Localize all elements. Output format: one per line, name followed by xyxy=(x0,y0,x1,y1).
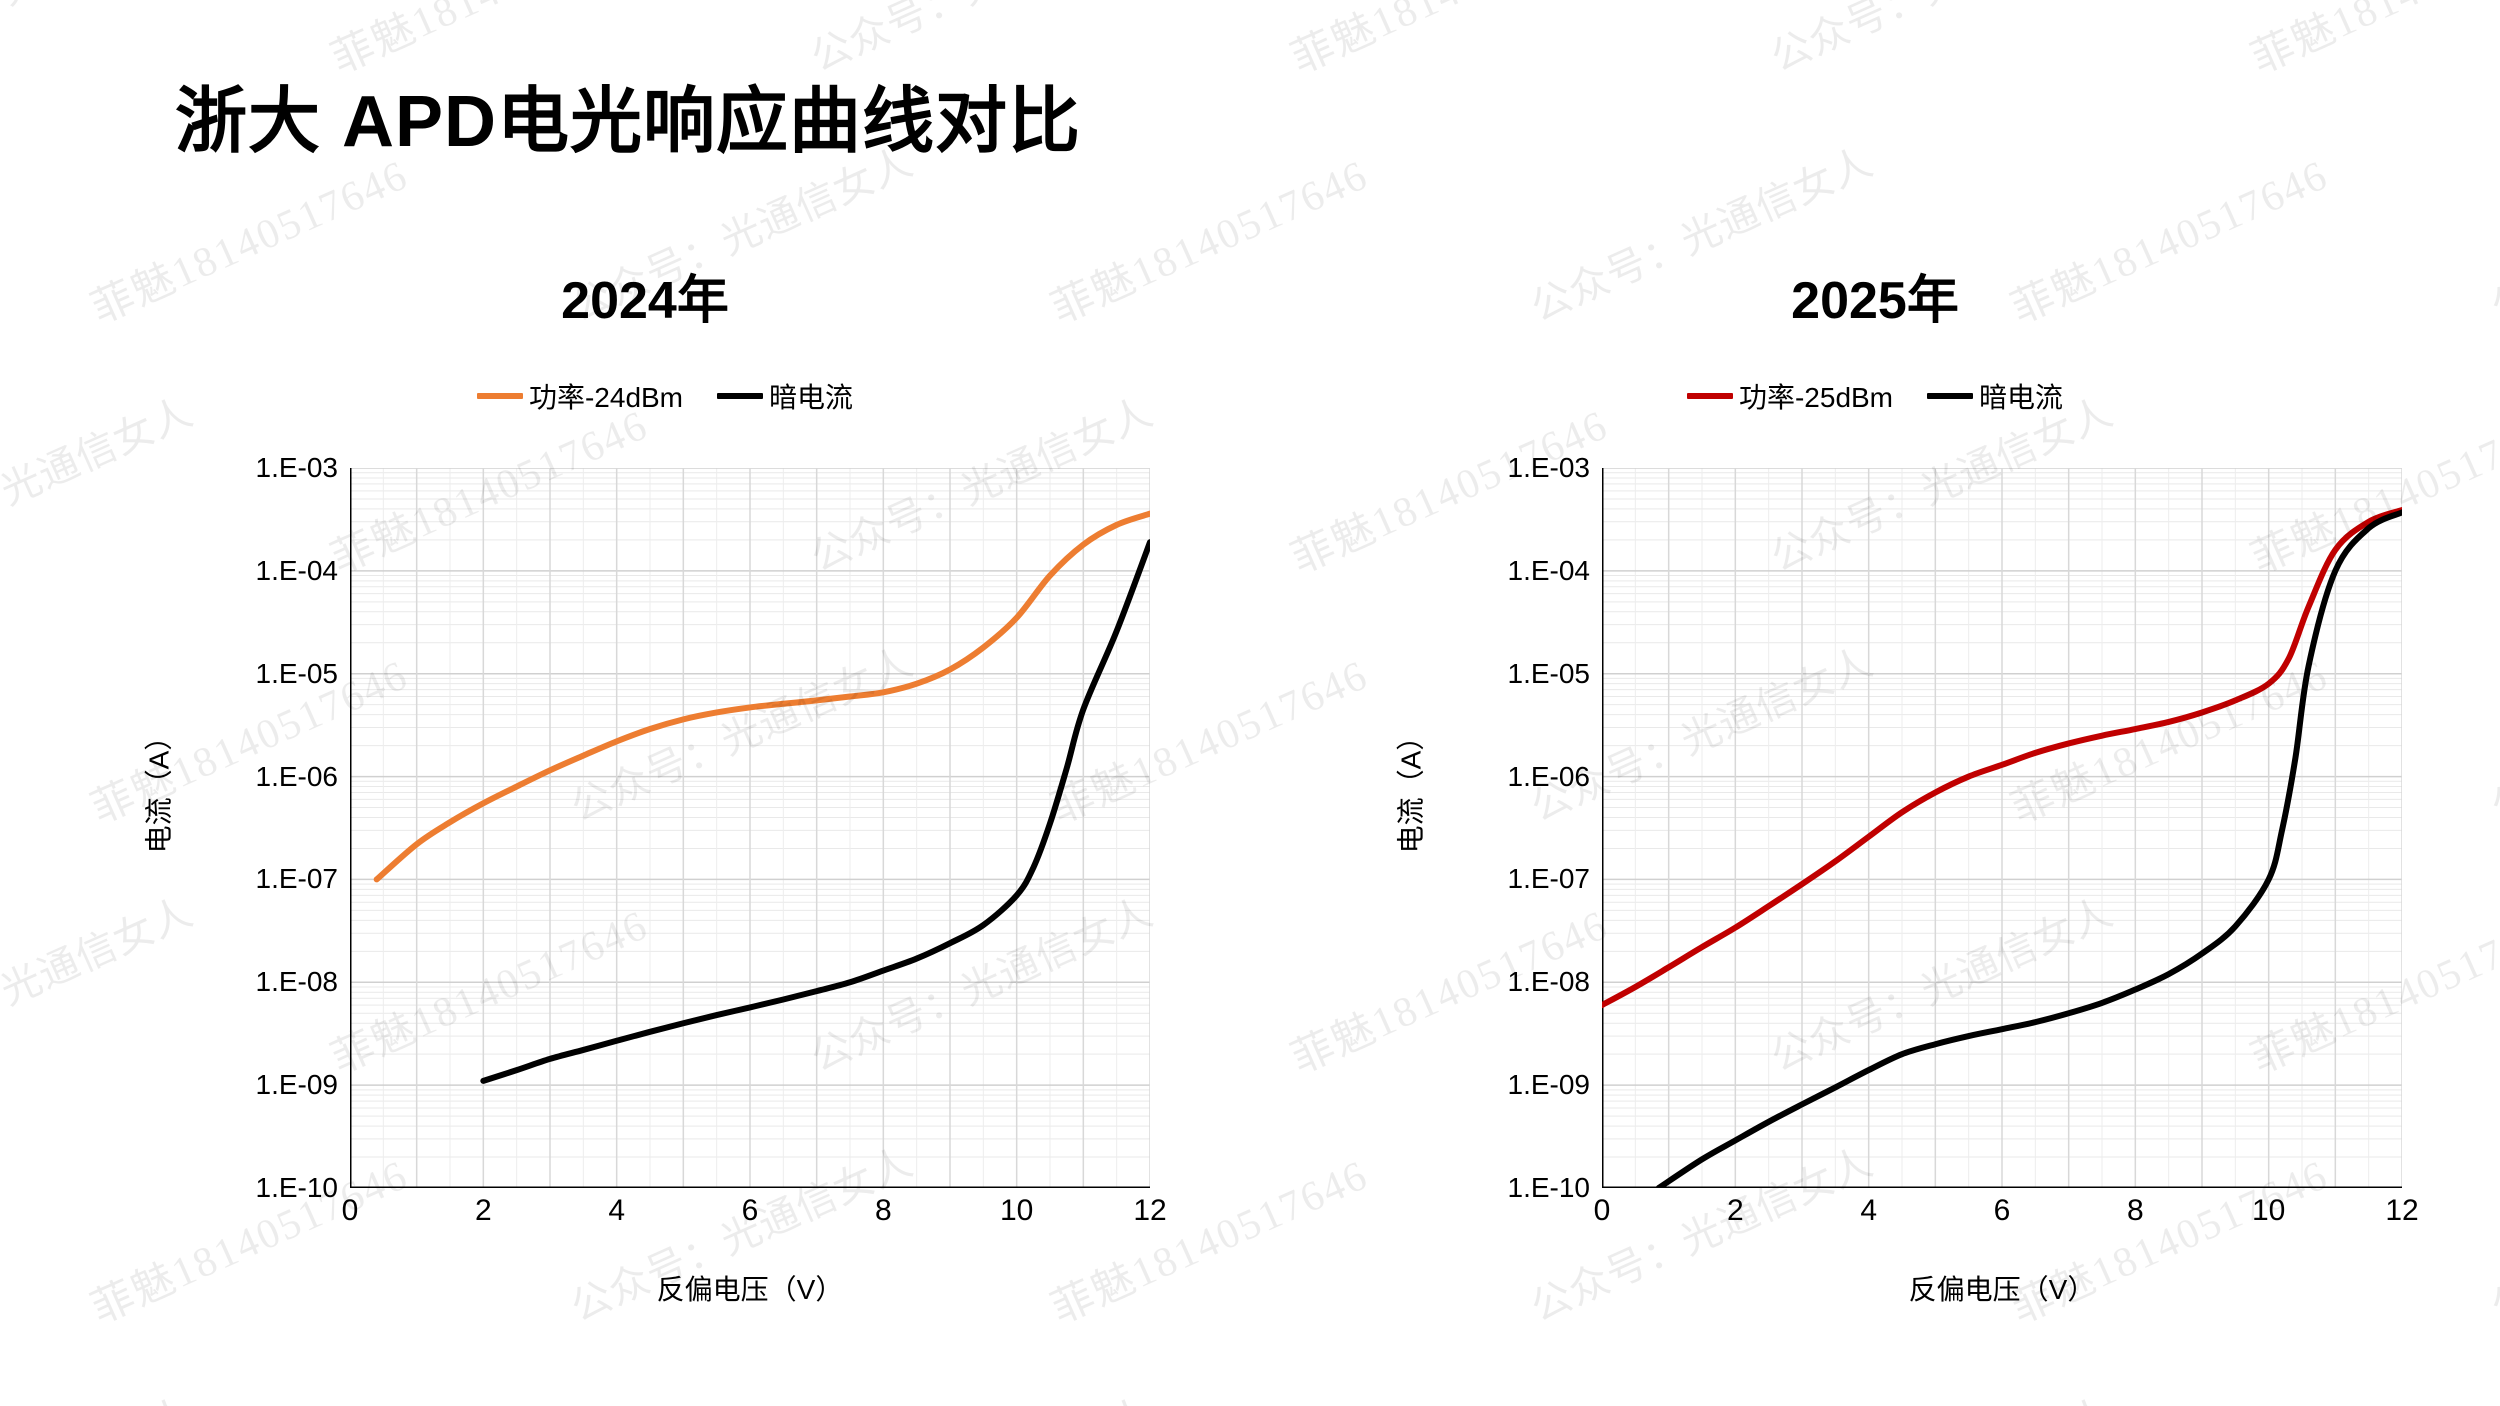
chart-panel-2025: 2025年 功率-25dBm 暗电流 1.E-031.E-041.E-051.E… xyxy=(1250,0,2500,1406)
x-axis-tick-label: 6 xyxy=(742,1194,759,1228)
legend-label-power: 功率-24dBm xyxy=(529,376,683,416)
y-axis-labels-2024: 1.E-031.E-041.E-051.E-061.E-071.E-081.E-… xyxy=(200,468,338,1188)
page-title: 浙大 APD电光响应曲线对比 xyxy=(175,62,1081,167)
plot-2024 xyxy=(350,468,1150,1188)
legend-2024: 功率-24dBm 暗电流 xyxy=(0,376,1290,416)
y-axis-tick-label: 1.E-09 xyxy=(256,1069,339,1101)
x-axis-tick-label: 12 xyxy=(1133,1194,1166,1228)
legend-swatch-power-icon xyxy=(477,393,523,399)
y-axis-tick-label: 1.E-07 xyxy=(1508,863,1591,895)
legend-item-dark-current[interactable]: 暗电流 xyxy=(717,376,853,416)
plot-2025 xyxy=(1602,468,2402,1188)
x-axis-tick-label: 10 xyxy=(2252,1194,2285,1228)
y-axis-title-2024: 电流（A） xyxy=(137,723,177,854)
legend-2025: 功率-25dBm 暗电流 xyxy=(1250,376,2500,416)
chart-area-2025: 1.E-031.E-041.E-051.E-061.E-071.E-081.E-… xyxy=(1452,468,2422,1225)
x-axis-labels-2024: 024681012 xyxy=(350,1194,1150,1240)
y-axis-tick-label: 1.E-08 xyxy=(256,966,339,998)
y-axis-tick-label: 1.E-04 xyxy=(256,555,339,587)
x-axis-tick-label: 4 xyxy=(608,1194,625,1228)
legend-item-dark-current[interactable]: 暗电流 xyxy=(1927,376,2063,416)
plot-svg-2024 xyxy=(350,468,1150,1188)
legend-label-power: 功率-25dBm xyxy=(1739,376,1893,416)
y-axis-tick-label: 1.E-05 xyxy=(1508,658,1591,690)
x-axis-labels-2025: 024681012 xyxy=(1602,1194,2402,1240)
y-axis-tick-label: 1.E-05 xyxy=(256,658,339,690)
legend-item-power[interactable]: 功率-24dBm xyxy=(477,376,683,416)
series-line-dark-current xyxy=(1659,512,2402,1188)
y-axis-labels-2025: 1.E-031.E-041.E-051.E-061.E-071.E-081.E-… xyxy=(1452,468,1590,1188)
y-axis-tick-label: 1.E-09 xyxy=(1508,1069,1591,1101)
y-axis-tick-label: 1.E-06 xyxy=(256,761,339,793)
plot-svg-2025 xyxy=(1602,468,2402,1188)
y-axis-tick-label: 1.E-04 xyxy=(1508,555,1591,587)
x-axis-tick-label: 0 xyxy=(342,1194,359,1228)
legend-label-dark-current: 暗电流 xyxy=(1979,376,2063,416)
x-axis-tick-label: 2 xyxy=(1727,1194,1744,1228)
panel-title-2024: 2024年 xyxy=(0,258,1270,333)
legend-label-dark-current: 暗电流 xyxy=(769,376,853,416)
legend-swatch-dark-current-icon xyxy=(717,393,763,399)
x-axis-tick-label: 0 xyxy=(1594,1194,1611,1228)
chart-panel-2024: 2024年 功率-24dBm 暗电流 1.E-031.E-041.E-051.E… xyxy=(0,0,1250,1406)
x-axis-tick-label: 4 xyxy=(1860,1194,1877,1228)
x-axis-tick-label: 6 xyxy=(1994,1194,2011,1228)
y-axis-tick-label: 1.E-07 xyxy=(256,863,339,895)
y-axis-tick-label: 1.E-10 xyxy=(1508,1172,1591,1204)
legend-swatch-dark-current-icon xyxy=(1927,393,1973,399)
y-axis-tick-label: 1.E-10 xyxy=(256,1172,339,1204)
x-axis-title-2024: 反偏电压（V） xyxy=(350,1268,1150,1308)
y-axis-title-2025: 电流（A） xyxy=(1389,723,1429,854)
x-axis-tick-label: 12 xyxy=(2385,1194,2418,1228)
x-axis-tick-label: 10 xyxy=(1000,1194,1033,1228)
y-axis-tick-label: 1.E-03 xyxy=(256,452,339,484)
y-axis-tick-label: 1.E-03 xyxy=(1508,452,1591,484)
panel-title-2025: 2025年 xyxy=(1250,258,2500,333)
x-axis-tick-label: 8 xyxy=(2127,1194,2144,1228)
x-axis-title-2025: 反偏电压（V） xyxy=(1602,1268,2402,1308)
legend-item-power[interactable]: 功率-25dBm xyxy=(1687,376,1893,416)
y-axis-tick-label: 1.E-08 xyxy=(1508,966,1591,998)
legend-swatch-power-icon xyxy=(1687,393,1733,399)
y-axis-tick-label: 1.E-06 xyxy=(1508,761,1591,793)
x-axis-tick-label: 2 xyxy=(475,1194,492,1228)
x-axis-tick-label: 8 xyxy=(875,1194,892,1228)
chart-area-2024: 1.E-031.E-041.E-051.E-061.E-071.E-081.E-… xyxy=(200,468,1170,1225)
